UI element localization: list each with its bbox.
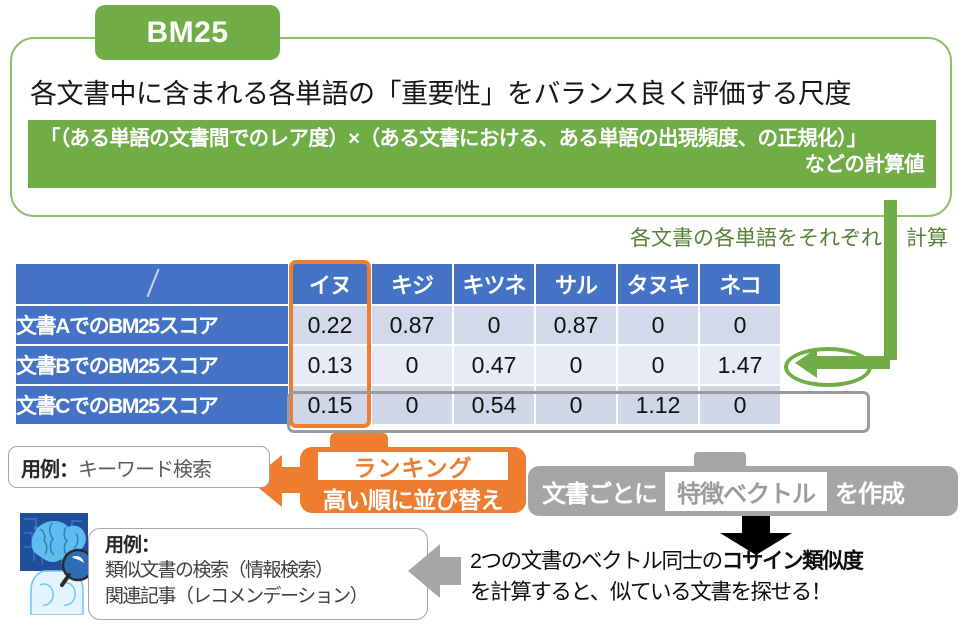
cell-a-1: 0.87 [372, 306, 452, 344]
cell-b-5: 1.47 [700, 346, 780, 384]
usecase-similar-line-1: 類似文書の検索（情報検索） [105, 558, 427, 583]
cell-c-4: 1.12 [618, 386, 698, 424]
column-header-5: ネコ [700, 264, 780, 304]
feature-vector-prefix: 文書ごとに [542, 474, 657, 509]
column-header-0: イヌ [290, 264, 370, 304]
bm25-score-table: イヌ キジ キツネ サル タヌキ ネコ 文書AでのBM25スコア 0.22 0.… [14, 262, 782, 426]
cell-a-3: 0.87 [536, 306, 616, 344]
cell-a-4: 0 [618, 306, 698, 344]
column-header-1: キジ [372, 264, 452, 304]
cell-c-2: 0.54 [454, 386, 534, 424]
cell-c-0: 0.15 [290, 386, 370, 424]
gray-arrow-tail [439, 557, 461, 585]
column-header-2: キツネ [454, 264, 534, 304]
row-label-c: 文書CでのBM25スコア [16, 386, 288, 424]
ranking-arrow-tail [281, 467, 305, 493]
bm25-headline: 各文書中に含まれる各単語の「重要性」をバランス良く評価する尺度 [30, 72, 940, 111]
ranking-callout-subtitle: 高い順に並び替え [300, 481, 526, 515]
green-arrow-head-icon [795, 348, 817, 378]
table-row: 文書BでのBM25スコア 0.13 0 0.47 0 0 1.47 [16, 346, 780, 384]
cosine-text-part-1: 2つの文書のベクトル同士の [470, 549, 722, 573]
cell-b-1: 0 [372, 346, 452, 384]
slide-canvas: BM25 各文書中に含まれる各単語の「重要性」をバランス良く評価する尺度 「（あ… [0, 0, 970, 629]
cell-c-1: 0 [372, 386, 452, 424]
feature-vector-box: 文書ごとに 特徴ベクトル を作成 [528, 466, 958, 516]
cell-b-0: 0.13 [290, 346, 370, 384]
table-header-row: イヌ キジ キツネ サル タヌキ ネコ [16, 264, 780, 304]
table-row: 文書AでのBM25スコア 0.22 0.87 0 0.87 0 0 [16, 306, 780, 344]
usecase-similar-line-2: 関連記事（レコメンデーション） [105, 584, 427, 609]
cell-c-3: 0 [536, 386, 616, 424]
bm25-formula-band: 「（ある単語の文書間でのレア度）×（ある文書における、ある単語の出現頻度、の正規… [28, 120, 936, 188]
feature-vector-suffix: を作成 [835, 474, 904, 509]
row-label-b: 文書BでのBM25スコア [16, 346, 288, 384]
cell-b-3: 0 [536, 346, 616, 384]
feature-vector-highlight: 特徴ベクトル [665, 472, 827, 511]
cosine-similarity-text: 2つの文書のベクトル同士のコサイン類似度を計算すると、似ている文書を探せる！ [470, 546, 970, 607]
green-connector-horizontal [815, 356, 890, 369]
usecase-keyword-label: 用例： [21, 453, 78, 482]
ranking-callout-title: ランキング [318, 452, 508, 480]
cosine-text-bold: コサイン類似度 [722, 549, 863, 573]
cosine-text-part-2: を計算すると、似ている文書を探せる！ [470, 580, 831, 604]
column-header-3: サル [536, 264, 616, 304]
usecase-similar-label: 用例： [105, 533, 427, 558]
table-corner-cell [16, 264, 288, 304]
table-row: 文書CでのBM25スコア 0.15 0 0.54 0 1.12 0 [16, 386, 780, 424]
cell-b-2: 0.47 [454, 346, 534, 384]
formula-line-2: などの計算値 [40, 152, 924, 178]
down-arrow-stem [742, 516, 770, 534]
usecase-keyword-box: 用例： キーワード検索 [8, 446, 270, 488]
formula-line-1: 「（ある単語の文書間でのレア度）×（ある文書における、ある単語の出現頻度、の正規… [40, 126, 924, 152]
usecase-similar-box: 用例： 類似文書の検索（情報検索） 関連記事（レコメンデーション） [88, 528, 428, 620]
bm25-title-badge: BM25 [95, 5, 280, 60]
cell-a-0: 0.22 [290, 306, 370, 344]
cell-a-2: 0 [454, 306, 534, 344]
row-label-a: 文書AでのBM25スコア [16, 306, 288, 344]
calc-annotation: 各文書の各単語をそれぞれ計算 [630, 222, 948, 252]
cell-a-5: 0 [700, 306, 780, 344]
calc-annotation-right: 計算 [906, 227, 948, 250]
cell-c-5: 0 [700, 386, 780, 424]
column-header-4: タヌキ [618, 264, 698, 304]
calc-annotation-left: 各文書の各単語をそれぞれ [630, 227, 882, 250]
cell-b-4: 0 [618, 346, 698, 384]
usecase-keyword-value: キーワード検索 [78, 453, 211, 482]
gray-arrow-left-icon [408, 544, 440, 598]
